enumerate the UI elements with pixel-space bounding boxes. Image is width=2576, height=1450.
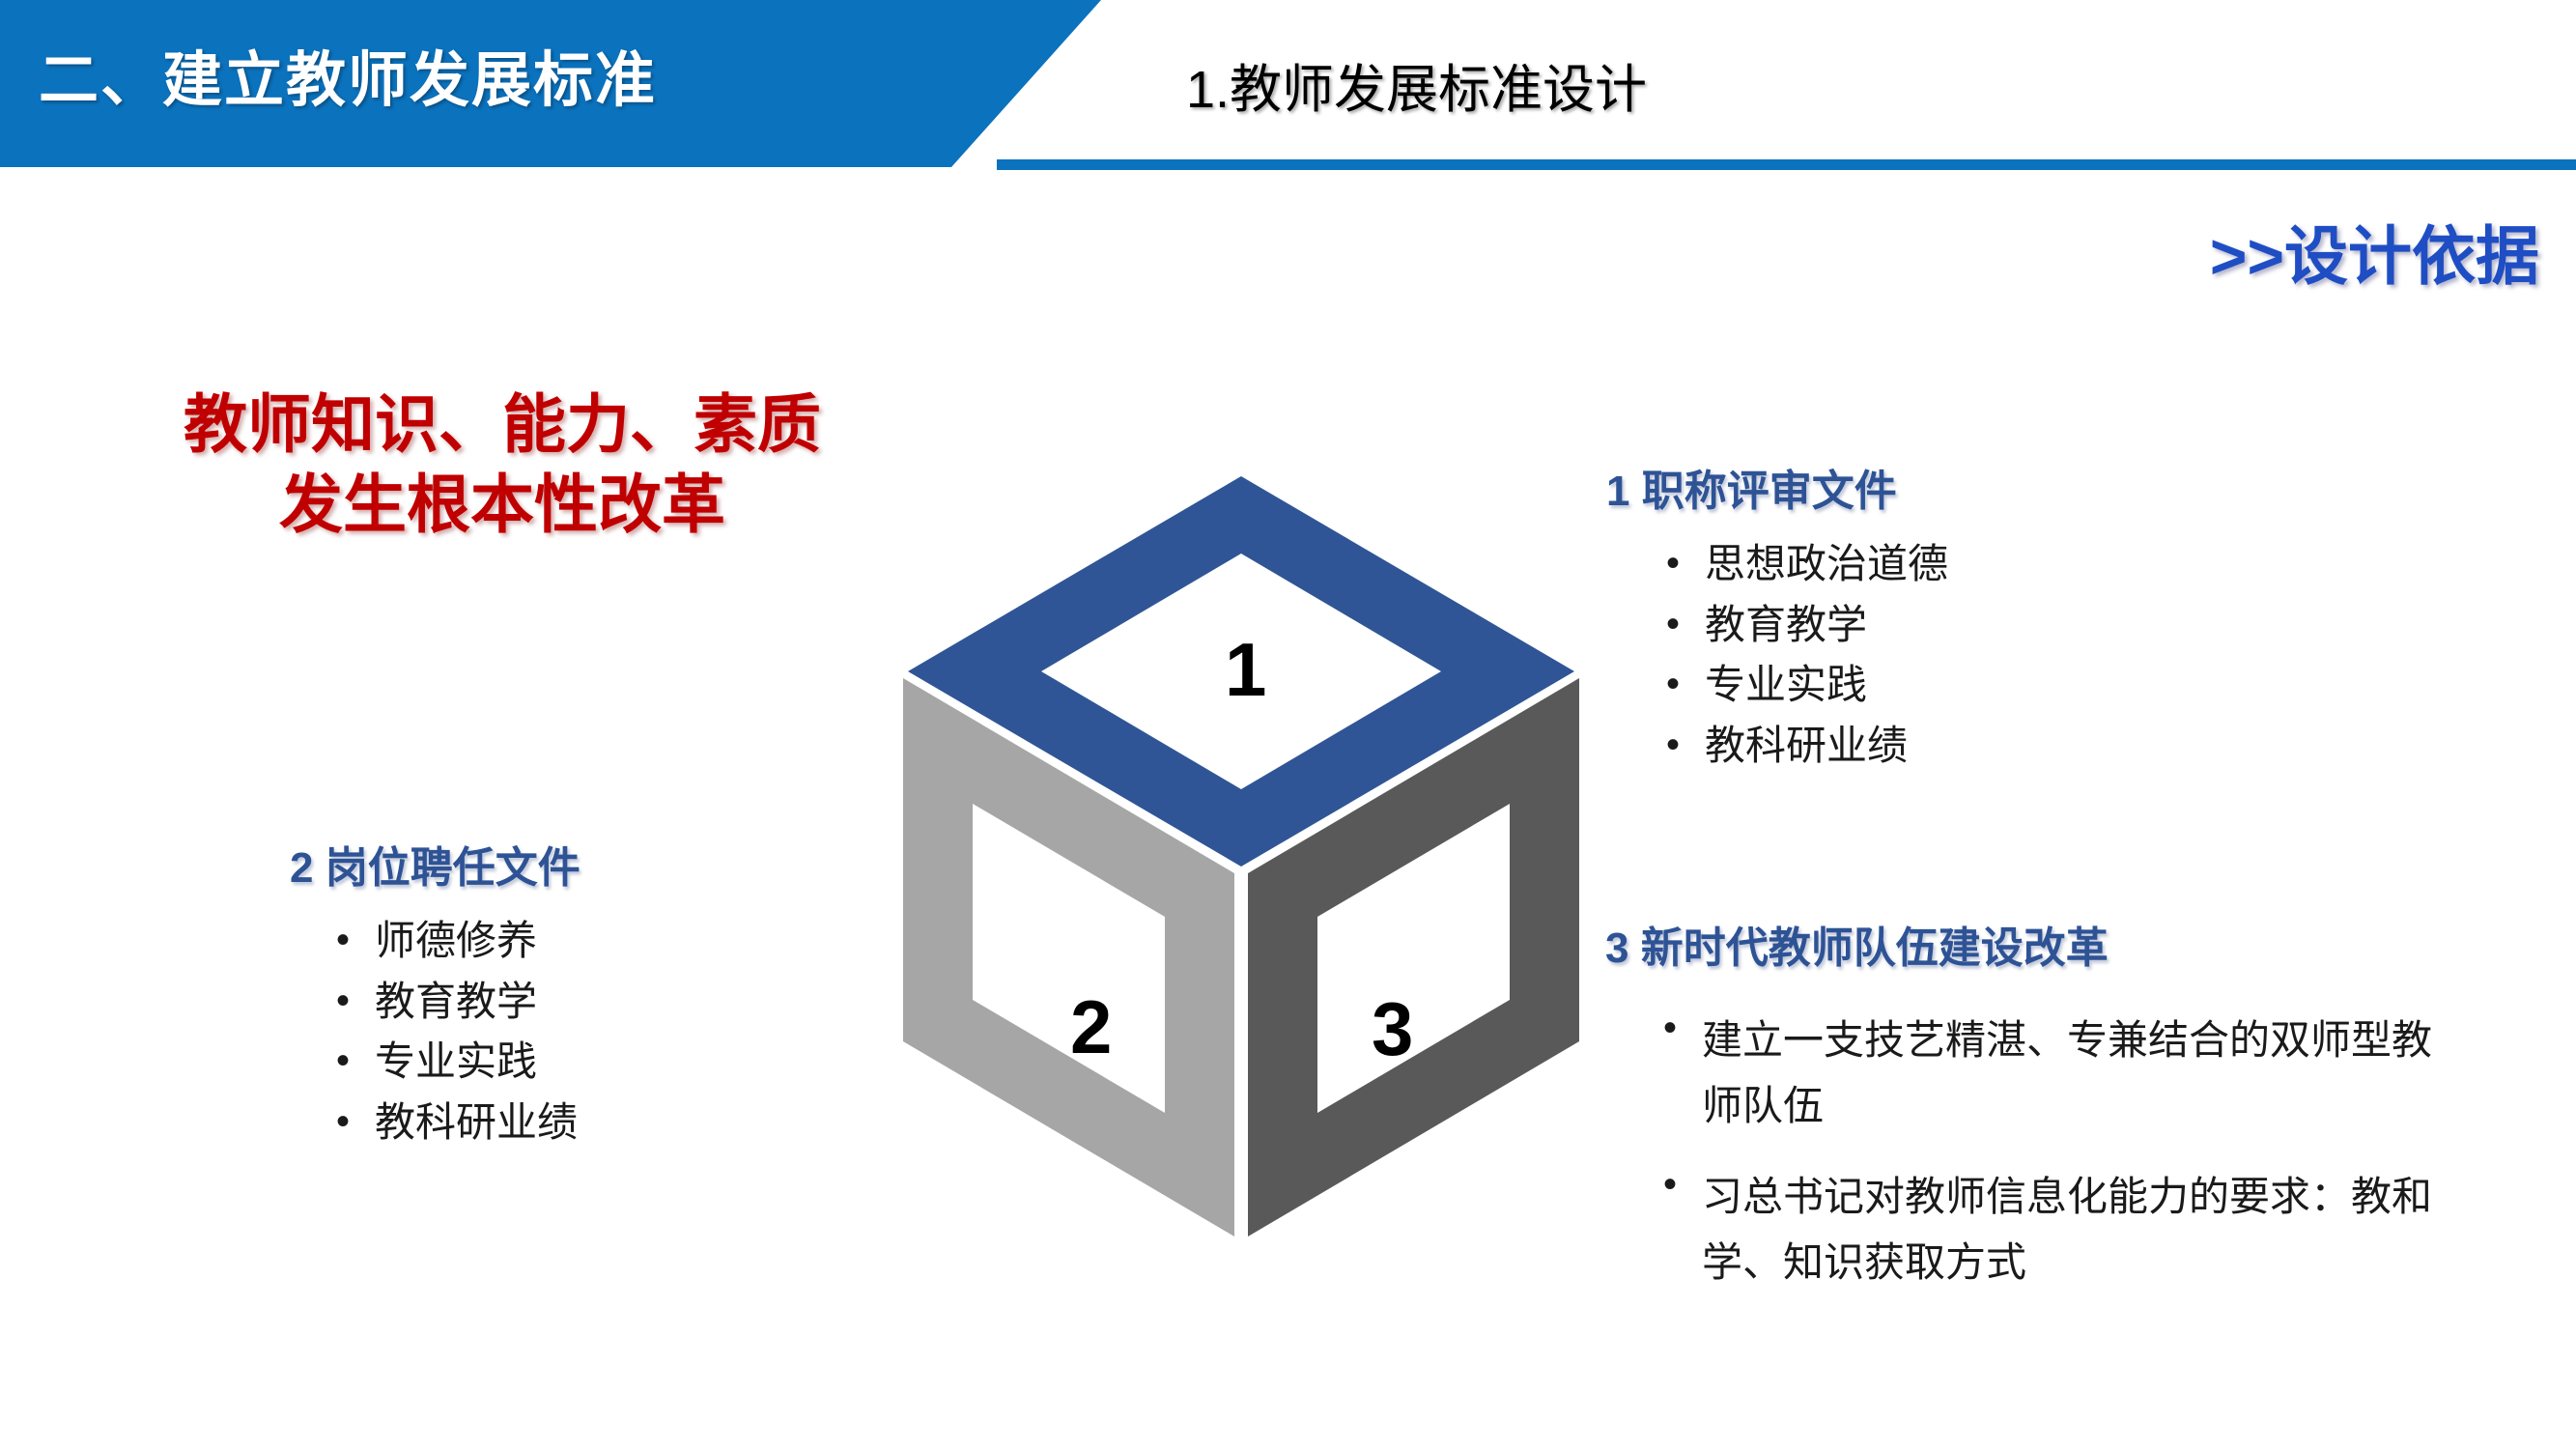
headline-line-2: 发生根本性改革 [87, 465, 918, 545]
list-item-label: 建立一支技艺精湛、专兼结合的双师型教师队伍 [1702, 1008, 2465, 1139]
isometric-cube-diagram: 1 2 3 [898, 464, 1584, 1246]
list-item-label: 教科研业绩 [1705, 725, 1908, 768]
design-basis-label: >>设计依据 [2210, 205, 2539, 298]
block-zhicheng-pingshen: 1 职称评审文件 • 思想政治道德 • 教育教学 • 专业实践 • 教科研业绩 [1606, 456, 1948, 784]
block-1-bullet-list: • 思想政治道德 • 教育教学 • 专业实践 • 教科研业绩 [1666, 543, 1948, 767]
cube-right-number: 3 [1372, 985, 1413, 1073]
cube-left-number: 2 [1070, 983, 1112, 1071]
bullet-point-icon: • [1663, 1164, 1702, 1205]
bullet-point-icon: • [1663, 1008, 1702, 1048]
block-xinshidai-jiaoshi: 3 新时代教师队伍建设改革 • 建立一支技艺精湛、专兼结合的双师型教师队伍 • … [1605, 913, 2465, 1321]
list-item: • 习总书记对教师信息化能力的要求：教和学、知识获取方式 [1663, 1164, 2465, 1295]
list-item-label: 专业实践 [375, 1040, 537, 1084]
cube-top-number: 1 [1225, 626, 1266, 714]
list-item-label: 习总书记对教师信息化能力的要求：教和学、知识获取方式 [1702, 1164, 2465, 1295]
list-item-label: 专业实践 [1705, 664, 1867, 707]
list-item: • 专业实践 [1666, 664, 1948, 707]
list-item-label: 教育教学 [375, 981, 537, 1024]
block-1-heading: 1 职称评审文件 [1606, 456, 1948, 518]
slide-canvas: 二、建立教师发展标准 1.教师发展标准设计 >>设计依据 教师知识、能力、素质 … [0, 0, 2576, 1450]
list-item: • 教育教学 [1666, 604, 1948, 647]
block-2-bullet-list: • 师德修养 • 教育教学 • 专业实践 • 教科研业绩 [336, 920, 580, 1144]
bullet-point-icon: • [1666, 664, 1705, 704]
list-item: • 思想政治道德 [1666, 543, 1948, 586]
block-gangwei-pinren: 2 岗位聘任文件 • 师德修养 • 教育教学 • 专业实践 • 教科研业绩 [290, 833, 580, 1161]
list-item: • 教育教学 [336, 981, 580, 1024]
block-3-heading: 3 新时代教师队伍建设改革 [1605, 913, 2465, 975]
bullet-point-icon: • [336, 981, 375, 1021]
list-item: • 教科研业绩 [336, 1101, 580, 1145]
list-item-label: 思想政治道德 [1705, 543, 1948, 586]
list-item: • 建立一支技艺精湛、专兼结合的双师型教师队伍 [1663, 1008, 2465, 1139]
list-item: • 教科研业绩 [1666, 725, 1948, 768]
bullet-point-icon: • [336, 1040, 375, 1081]
list-item-label: 教科研业绩 [375, 1101, 578, 1145]
block-3-bullet-list: • 建立一支技艺精湛、专兼结合的双师型教师队伍 • 习总书记对教师信息化能力的要… [1663, 1008, 2465, 1295]
headline-line-1: 教师知识、能力、素质 [87, 384, 918, 465]
cube-svg [898, 464, 1584, 1246]
bullet-point-icon: • [1666, 543, 1705, 583]
list-item-label: 师德修养 [375, 920, 537, 963]
bullet-point-icon: • [1666, 604, 1705, 644]
bullet-point-icon: • [1666, 725, 1705, 765]
list-item-label: 教育教学 [1705, 604, 1867, 647]
page-title: 二、建立教师发展标准 [39, 31, 908, 118]
subsection-title: 1.教师发展标准设计 [1186, 46, 1647, 123]
bullet-point-icon: • [336, 1101, 375, 1142]
list-item: • 师德修养 [336, 920, 580, 963]
bullet-point-icon: • [336, 920, 375, 960]
list-item: • 专业实践 [336, 1040, 580, 1084]
block-2-heading: 2 岗位聘任文件 [290, 833, 580, 895]
headline-red: 教师知识、能力、素质 发生根本性改革 [87, 384, 918, 544]
header-divider-line [997, 159, 2576, 170]
